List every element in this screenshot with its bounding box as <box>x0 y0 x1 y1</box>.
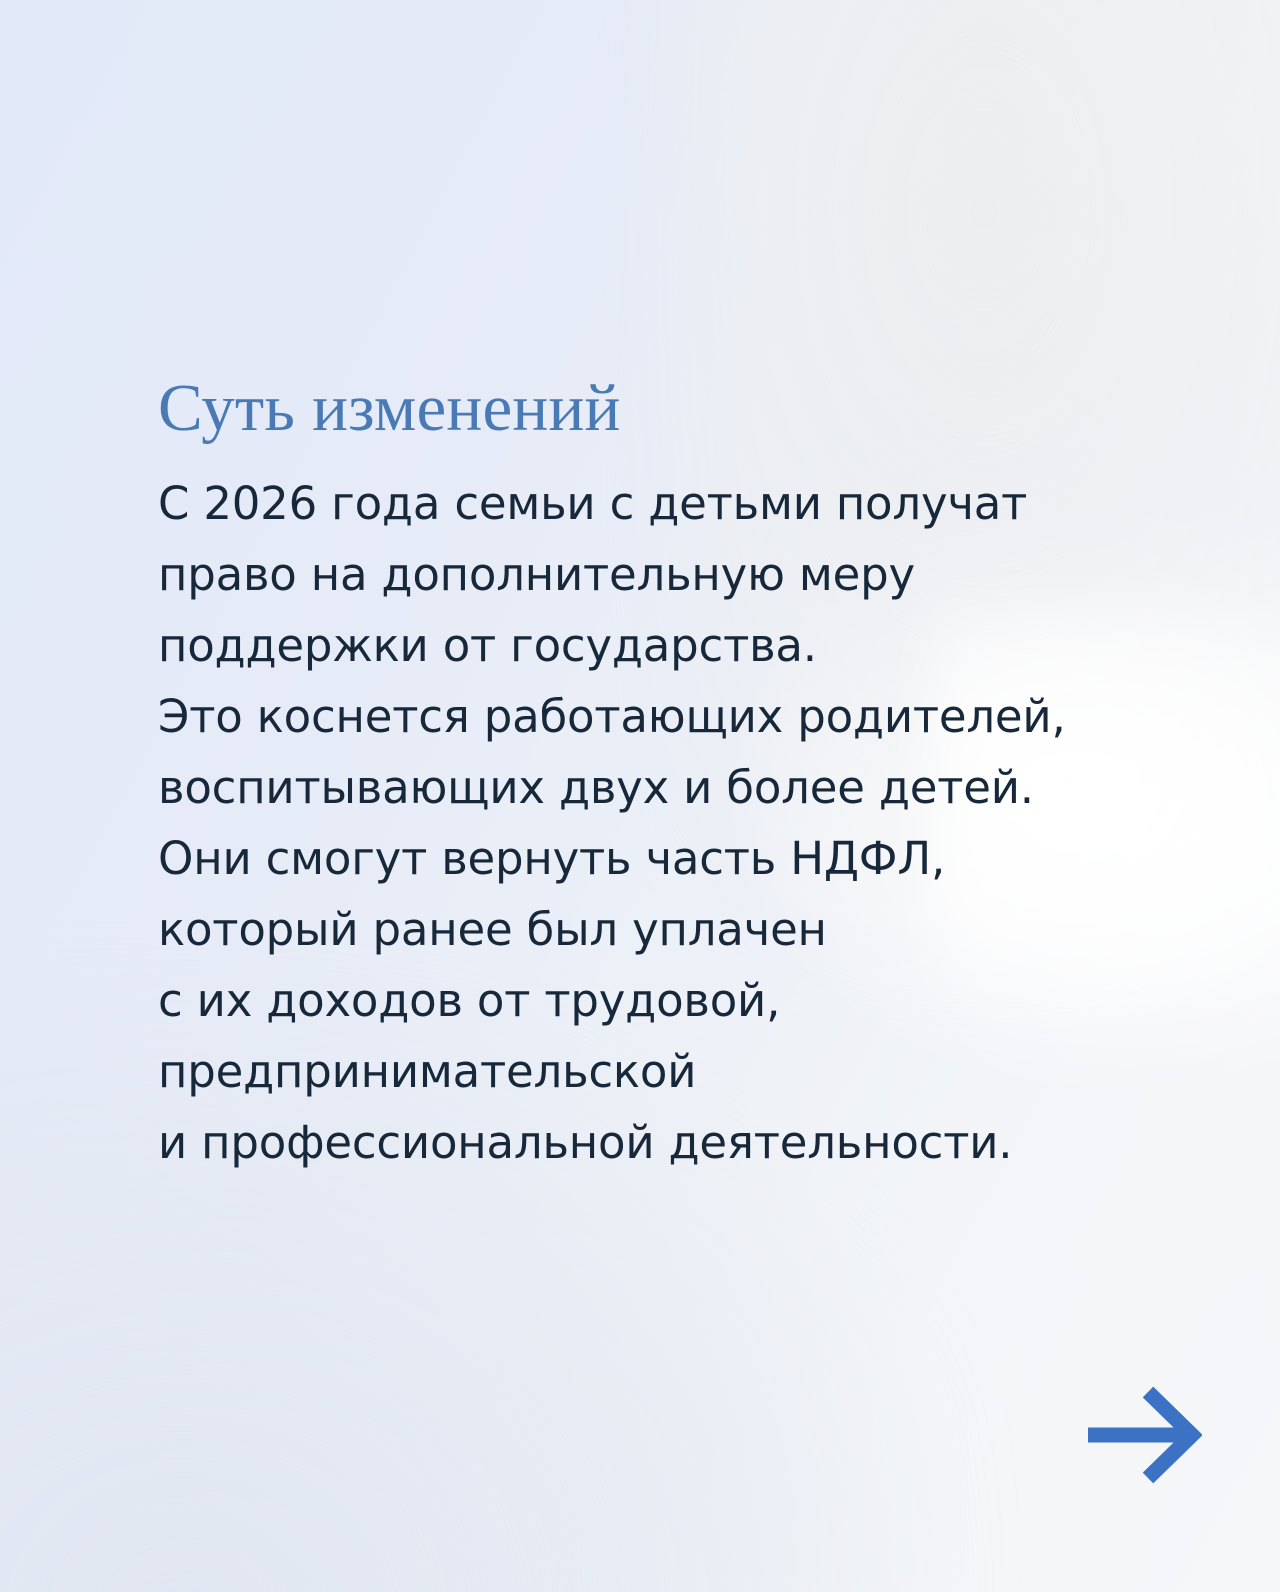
slide-content: Суть изменений С 2026 года семьи с детьм… <box>158 374 1158 1178</box>
body-line: воспитывающих двух и более детей. <box>158 752 1158 823</box>
body-line: предпринимательской <box>158 1036 1158 1107</box>
body-line: С 2026 года семьи с детьми получат <box>158 468 1158 539</box>
body-line: поддержки от государства. <box>158 610 1158 681</box>
body-line: и профессиональной деятельности. <box>158 1107 1158 1178</box>
body-line: с их доходов от трудовой, <box>158 965 1158 1036</box>
next-slide-button[interactable] <box>1086 1386 1202 1484</box>
body-line: право на дополнительную меру <box>158 539 1158 610</box>
arrow-right-icon[interactable] <box>1086 1386 1202 1484</box>
body-line: Они смогут вернуть часть НДФЛ, <box>158 823 1158 894</box>
body-paragraph: С 2026 года семьи с детьми получат право… <box>158 468 1158 1178</box>
body-line: Это коснется работающих родителей, <box>158 681 1158 752</box>
body-line: который ранее был уплачен <box>158 894 1158 965</box>
page-title: Суть изменений <box>158 374 1158 442</box>
slide-canvas: Суть изменений С 2026 года семьи с детьм… <box>0 0 1280 1592</box>
